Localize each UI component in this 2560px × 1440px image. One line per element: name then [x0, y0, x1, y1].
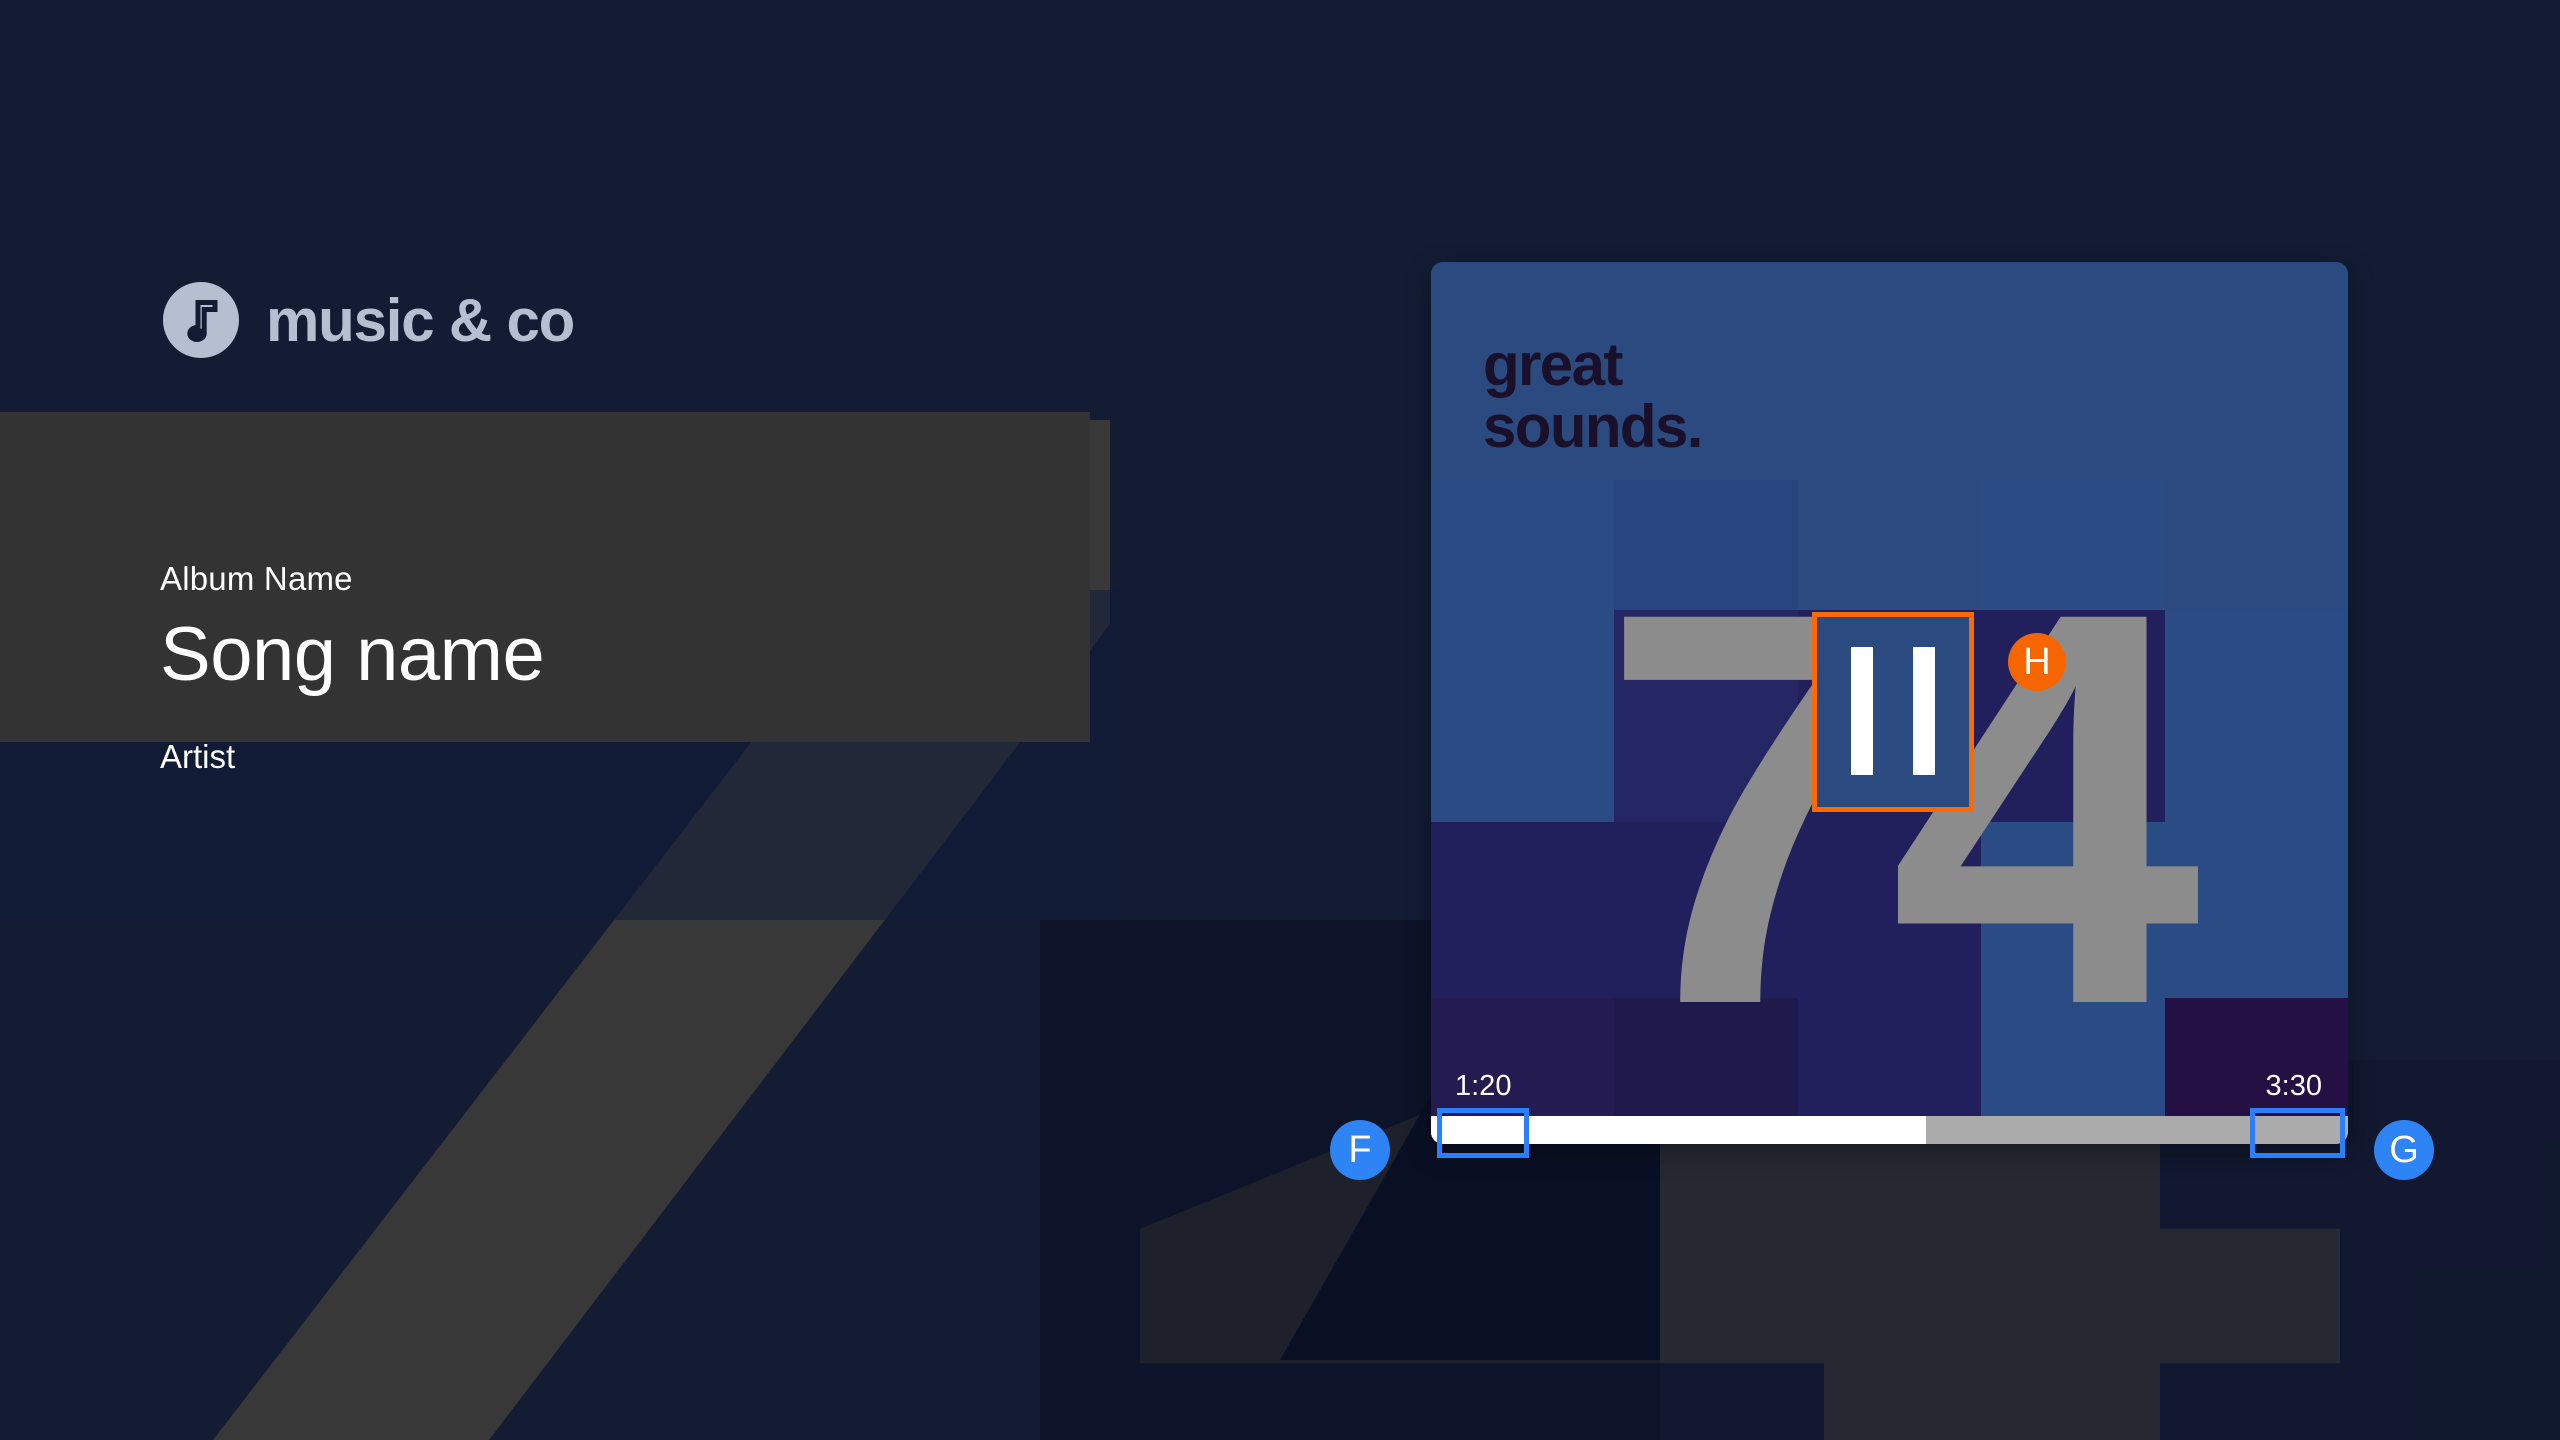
- pause-icon-bar-left: [1851, 647, 1873, 775]
- progress-bar-fill: [1431, 1116, 1926, 1144]
- brand-logo[interactable]: music & co: [163, 282, 574, 358]
- total-time-chip: 3:30: [2256, 1067, 2332, 1108]
- progress-bar[interactable]: [1431, 1116, 2348, 1144]
- song-title: Song name: [160, 616, 544, 694]
- artwork-tagline: great sounds.: [1483, 334, 1702, 459]
- album-name: Album Name: [160, 560, 544, 598]
- annotation-badge-f-label: F: [1348, 1129, 1371, 1172]
- app-root: music & co Album Name Song name Artist: [0, 0, 2560, 1440]
- elapsed-time-chip: 1:20: [1445, 1067, 1521, 1108]
- annotation-badge-f: F: [1330, 1120, 1390, 1180]
- annotation-badge-h: H: [2008, 633, 2066, 691]
- artwork-tagline-line1: great: [1483, 334, 1702, 396]
- artist-name: Artist: [160, 738, 544, 776]
- pause-icon-bar-right: [1913, 647, 1935, 775]
- annotation-badge-g-label: G: [2389, 1129, 2419, 1172]
- now-playing-info: Album Name Song name Artist: [160, 560, 544, 776]
- artwork-tagline-line2: sounds.: [1483, 396, 1702, 458]
- annotation-badge-h-label: H: [2023, 641, 2050, 684]
- brand-name: music & co: [266, 286, 574, 355]
- music-note-icon: [163, 282, 239, 358]
- pause-button[interactable]: [1813, 612, 1973, 810]
- annotation-badge-g: G: [2374, 1120, 2434, 1180]
- album-artwork-card[interactable]: great sounds. 74 1:20 3:30: [1431, 262, 2348, 1144]
